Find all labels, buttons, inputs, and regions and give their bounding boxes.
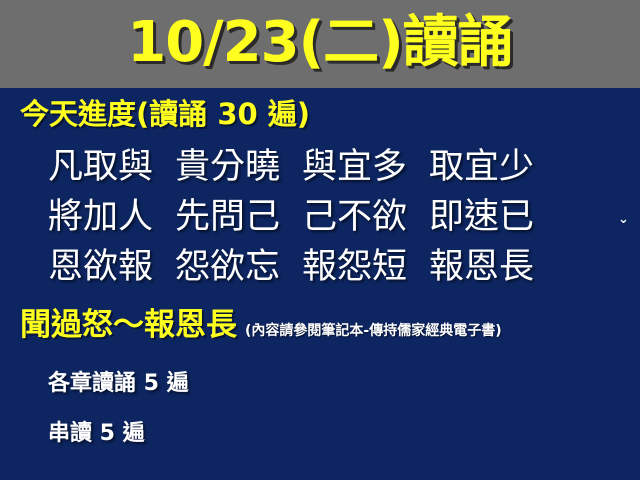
verse-segment: 報怨短 (302, 250, 407, 285)
verse-segment: 將加人 (48, 200, 153, 235)
verse-segment: 凡取與 (48, 150, 153, 185)
verse-segment: 即速已 (429, 200, 534, 235)
slide-body: 今天進度(讀誦 30 遍) 凡取與貴分曉與宜多取宜少 將加人先問己己不欲即速已 … (0, 88, 640, 480)
section-note: (內容請參閱筆記本-傳持儒家經典電子書) (245, 324, 502, 338)
section-heading-row: 聞過怒～報恩長 (內容請參閱筆記本-傳持儒家經典電子書) (20, 310, 502, 341)
verse-segment: 己不欲 (302, 200, 407, 235)
verse-line: 恩欲報怨欲忘報怨短報恩長 (48, 250, 534, 285)
verse-segment: 與宜多 (302, 150, 407, 185)
verse-segment: 貴分曉 (175, 150, 280, 185)
progress-heading: 今天進度(讀誦 30 遍) (20, 100, 310, 129)
sub-line: 串讀 5 遍 (48, 423, 145, 445)
verse-line: 凡取與貴分曉與宜多取宜少 (48, 150, 534, 185)
page-title: 10/23(二)讀誦 (127, 15, 513, 71)
verse-segment: 報恩長 (429, 250, 534, 285)
trailing-mark-artifact: ⌄ (618, 214, 632, 226)
verse-line: 將加人先問己己不欲即速已 (48, 200, 534, 235)
verse-segment: 先問己 (175, 200, 280, 235)
slide: 10/23(二)讀誦 今天進度(讀誦 30 遍) 凡取與貴分曉與宜多取宜少 將加… (0, 0, 640, 480)
verse-segment: 取宜少 (429, 150, 534, 185)
section-heading: 聞過怒～報恩長 (20, 310, 237, 341)
sub-line: 各章讀誦 5 遍 (48, 373, 189, 395)
title-band: 10/23(二)讀誦 (0, 0, 640, 88)
verse-segment: 怨欲忘 (175, 250, 280, 285)
verse-segment: 恩欲報 (48, 250, 153, 285)
